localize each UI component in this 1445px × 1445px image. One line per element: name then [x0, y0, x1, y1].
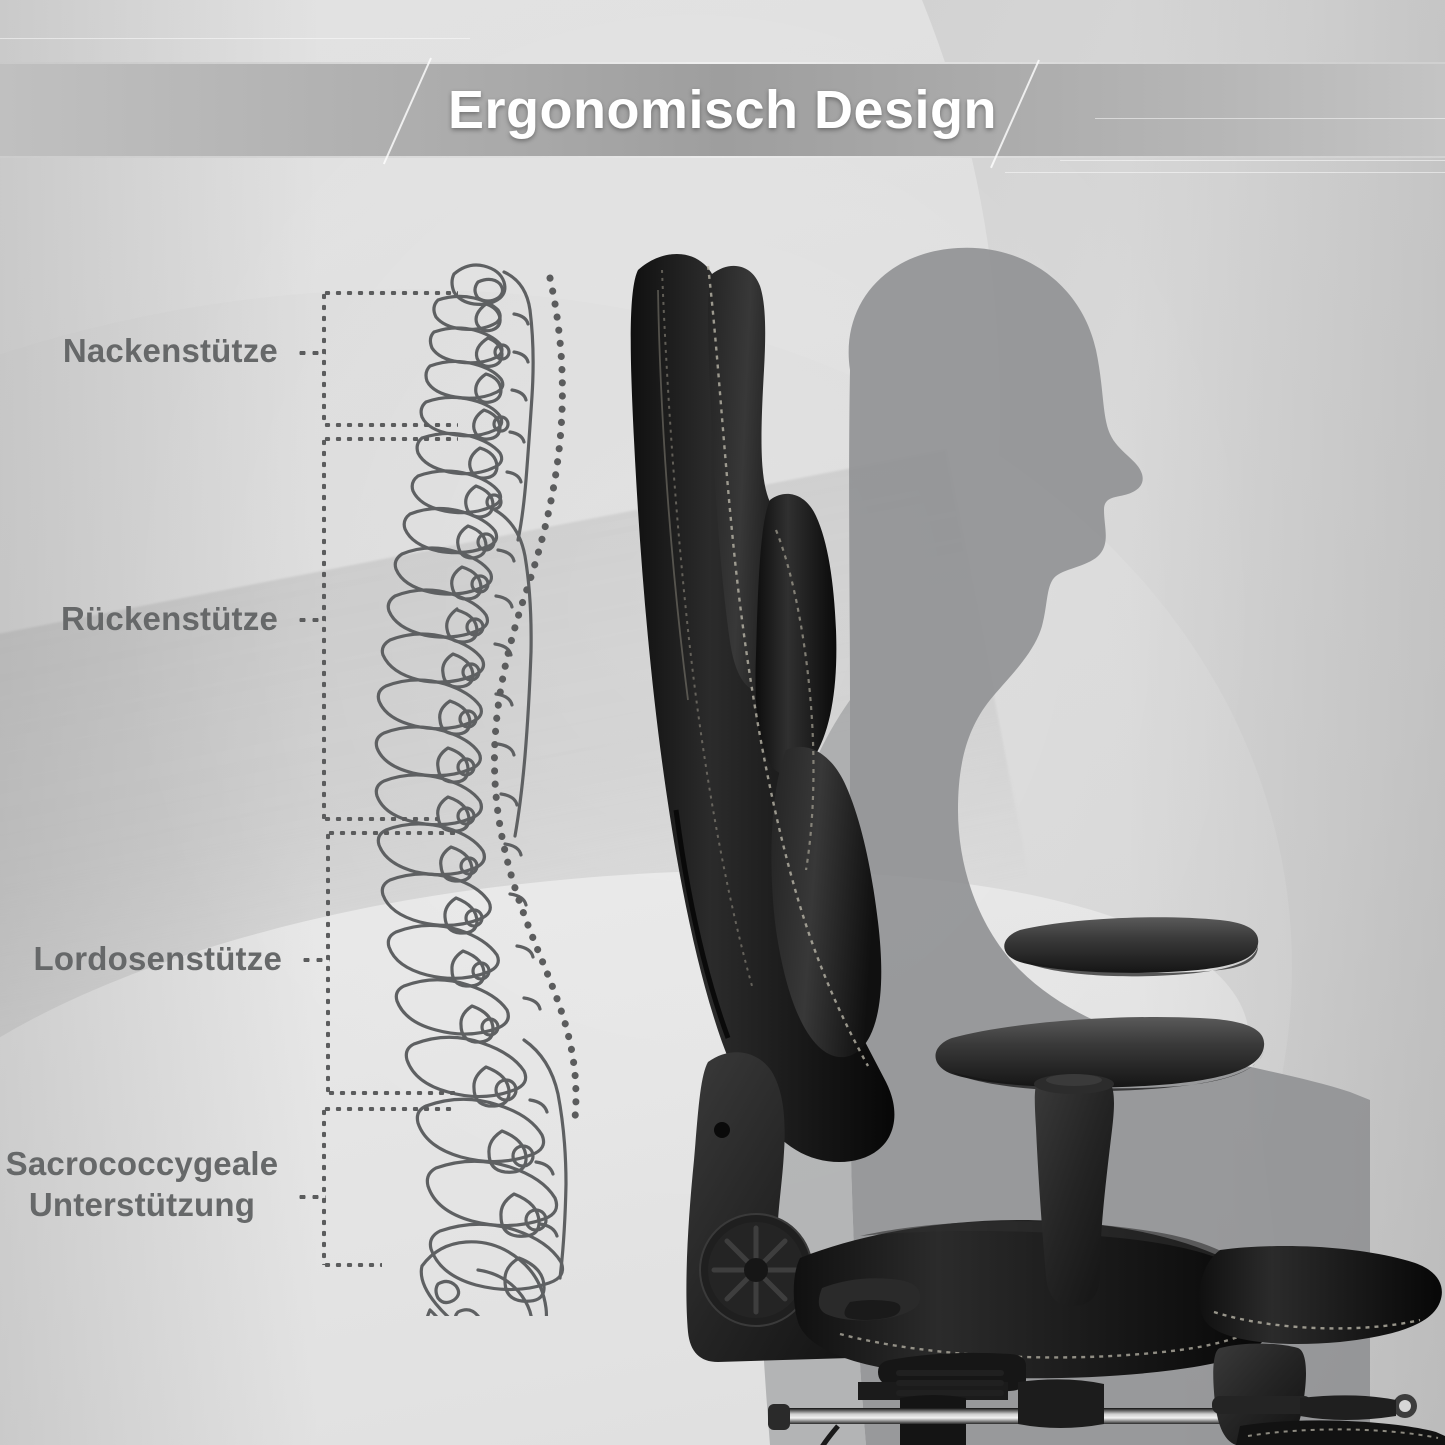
gaming-chair	[600, 230, 1445, 1445]
label-lumbar-support: Lordosenstütze	[0, 938, 282, 979]
back-bracket-bottom	[322, 817, 438, 821]
back-leader-line	[296, 618, 326, 622]
page-title: Ergonomisch Design	[0, 62, 1445, 158]
lumbar-bracket-left	[326, 831, 330, 1093]
label-sacral-support: Sacrococcygeale Unterstützung	[0, 1143, 284, 1226]
sacral-bracket-left	[322, 1107, 326, 1265]
neck-bracket-left	[322, 291, 326, 425]
header-banner: Ergonomisch Design	[0, 0, 1445, 176]
neck-leader-line	[296, 351, 326, 355]
back-bracket-left	[322, 437, 326, 819]
lumbar-leader-line	[300, 958, 330, 962]
neck-bracket-top	[322, 291, 458, 295]
banner-rule-7	[1005, 172, 1445, 173]
neck-bracket-bottom	[322, 423, 458, 427]
sacral-bracket-bottom	[322, 1263, 382, 1267]
banner-rule-1	[0, 38, 470, 39]
sacral-leader-line	[296, 1195, 326, 1199]
label-back-support: Rückenstütze	[0, 598, 278, 639]
label-neck-support: Nackenstütze	[0, 330, 278, 371]
lumbar-bracket-top	[326, 831, 456, 835]
lumbar-bracket-bottom	[326, 1091, 456, 1095]
back-bracket-top	[322, 437, 458, 441]
ergonomic-design-infographic: Nackenstütze Rückenstütze Lordosenstütze…	[0, 0, 1445, 1445]
banner-rule-6	[1060, 160, 1445, 161]
sacral-bracket-top	[322, 1107, 456, 1111]
